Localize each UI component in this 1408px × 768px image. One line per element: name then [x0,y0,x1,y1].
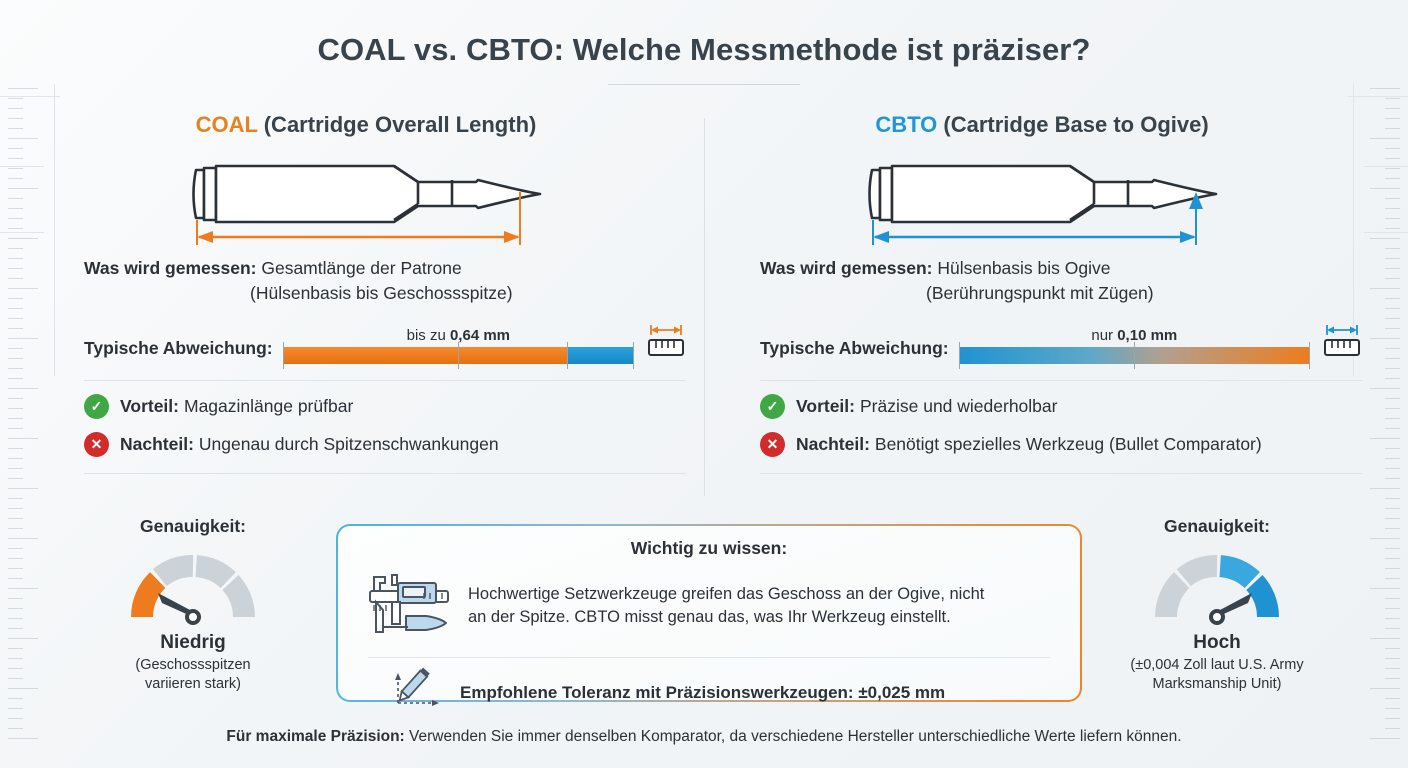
check-circle-icon: ✓ [760,394,785,419]
cbto-pro-row: ✓ Vorteil: Präzise und wiederholbar [722,394,1362,419]
bar-tick [1309,342,1310,369]
grid-line [0,232,44,233]
bar-tick [283,342,284,369]
coal-con-label: Nachteil: [120,434,194,455]
note-body: Hochwertige Setzwerkzeuge greifen das Ge… [362,565,1056,646]
cbto-measured-line2: (Berührungspunkt mit Zügen) [760,281,1362,306]
caliper-bullet-icon [362,565,454,646]
column-divider [704,118,705,496]
note-text-line2: an der Spitze. CBTO misst genau das, was… [468,606,984,629]
coal-deviation-label: Typische Abweichung: [84,338,273,364]
gauge-value-label: Hoch [1102,632,1332,654]
coal-measured-line2: (Hülsenbasis bis Geschossspitze) [84,281,686,306]
page-title: COAL vs. CBTO: Welche Messmethode ist pr… [0,32,1408,68]
note-title: Wichtig zu wissen: [362,538,1056,559]
cbto-heading-key: CBTO [875,112,937,137]
cbto-heading: CBTO (Cartridge Base to Ogive) [722,112,1362,138]
coal-heading-key: COAL [196,112,258,137]
cbto-deviation-prefix: nur [1091,327,1117,344]
important-note-inner: Wichtig zu wissen: [338,526,1080,700]
ruler-decoration-right [1362,88,1400,748]
grid-line [1364,166,1408,167]
bar-tick [633,342,634,369]
divider [368,657,1050,658]
footer-note: Für maximale Präzision: Verwenden Sie im… [0,728,1408,746]
gauge-title: Genauigkeit: [78,516,308,537]
grid-line [1348,96,1408,97]
gauge-sub-line2: variieren stark) [78,675,308,694]
cbto-measured-line1: Hülsenbasis bis Ogive [937,258,1110,278]
note-text: Hochwertige Setzwerkzeuge greifen das Ge… [468,583,984,629]
coal-deviation-row: Typische Abweichung: bis zu 0,64 mm [46,322,686,364]
bar-tick [959,342,960,369]
cbto-con-label: Nachteil: [796,434,870,455]
bar-tick [567,342,568,369]
accuracy-gauge-coal: Genauigkeit: Niedrig (Geschossspitzen va… [78,516,308,694]
x-circle-icon: ✕ [84,432,109,457]
cbto-pro-text: Präzise und wiederholbar [860,396,1057,417]
ruler-decoration-left [8,88,46,748]
cbto-column: CBTO (Cartridge Base to Ogive) [722,112,1362,474]
footer-text: Verwenden Sie immer denselben Komparator… [405,728,1182,745]
divider [760,380,1362,381]
gauge-dial [78,543,308,630]
footer-bold: Für maximale Präzision: [226,728,404,745]
cbto-cartridge-diagram [722,152,1362,252]
grid-line [1364,232,1408,233]
accuracy-gauge-cbto: Genauigkeit: Hoch (±0,004 Zoll laut U.S.… [1102,516,1332,694]
important-note-box: Wichtig zu wissen: [336,524,1082,702]
cbto-con-text: Benötigt spezielles Werkzeug (Bullet Com… [875,434,1262,455]
coal-deviation-bar-wrap: bis zu 0,64 mm [283,327,634,364]
coal-con-text: Ungenau durch Spitzenschwankungen [199,434,499,455]
cbto-deviation-row: Typische Abweichung: nur 0,10 mm [722,322,1362,364]
cbto-deviation-number: 0,10 mm [1117,327,1177,344]
bar-tick [458,342,459,369]
grid-line [0,96,60,97]
gauge-sub-line2: Marksmanship Unit) [1102,675,1332,694]
title-underline [608,84,800,85]
gauge-title: Genauigkeit: [1102,516,1332,537]
gauge-sub: (±0,004 Zoll laut U.S. Army Marksmanship… [1102,656,1332,694]
coal-measured-line1: Gesamtlänge der Patrone [261,258,461,278]
coal-measured-description: Was wird gemessen: Gesamtlänge der Patro… [46,256,686,306]
coal-deviation-bar-fill [283,347,568,364]
infographic-canvas: COAL vs. CBTO: Welche Messmethode ist pr… [0,0,1408,768]
pencil-tolerance-icon [390,667,444,718]
note-footer-row: Empfohlene Toleranz mit Präzisionswerkze… [362,667,1056,718]
note-text-line1: Hochwertige Setzwerkzeuge greifen das Ge… [468,583,984,606]
ruler-measure-icon [646,322,686,363]
coal-heading: COAL (Cartridge Overall Length) [46,112,686,138]
cbto-deviation-bar-wrap: nur 0,10 mm [959,327,1310,364]
gauge-sub: (Geschossspitzen variieren stark) [78,656,308,694]
cbto-deviation-bar [959,347,1310,364]
coal-pro-label: Vorteil: [120,396,179,417]
coal-pro-text: Magazinlänge prüfbar [184,396,353,417]
x-circle-icon: ✕ [760,432,785,457]
check-circle-icon: ✓ [84,394,109,419]
coal-heading-rest: (Cartridge Overall Length) [264,112,537,137]
gauge-sub-line1: (±0,004 Zoll laut U.S. Army [1102,656,1332,675]
coal-con-row: ✕ Nachteil: Ungenau durch Spitzenschwank… [46,432,686,457]
coal-column: COAL (Cartridge Overall Length) [46,112,686,474]
divider [760,473,1362,474]
coal-deviation-prefix: bis zu [407,327,450,344]
cbto-pro-label: Vorteil: [796,396,855,417]
coal-measured-label: Was wird gemessen: [84,258,256,278]
coal-deviation-bar [283,347,634,364]
cbto-measured-label: Was wird gemessen: [760,258,932,278]
cbto-measured-description: Was wird gemessen: Hülsenbasis bis Ogive… [722,256,1362,306]
gauge-sub-line1: (Geschossspitzen [78,656,308,675]
ruler-measure-icon [1322,322,1362,363]
bar-tick [1134,342,1135,369]
coal-cartridge-diagram [46,152,686,252]
coal-pro-row: ✓ Vorteil: Magazinlänge prüfbar [46,394,686,419]
note-footer-text: Empfohlene Toleranz mit Präzisionswerkze… [460,683,945,703]
grid-line [0,166,44,167]
cbto-deviation-label: Typische Abweichung: [760,338,949,364]
cbto-heading-rest: (Cartridge Base to Ogive) [943,112,1208,137]
gauge-dial [1102,543,1332,630]
gauge-value-label: Niedrig [78,632,308,654]
cbto-con-row: ✕ Nachteil: Benötigt spezielles Werkzeug… [722,432,1362,457]
divider [84,473,686,474]
divider [84,380,686,381]
